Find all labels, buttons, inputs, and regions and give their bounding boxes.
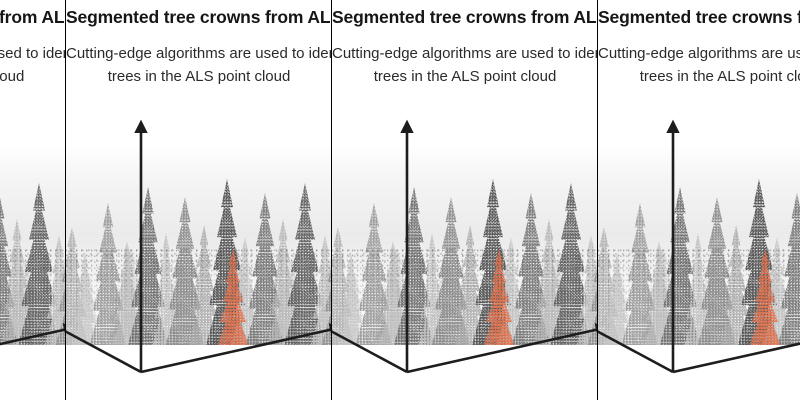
als-point-cloud-scene (598, 100, 800, 400)
page-title: Segmented tree crowns from ALS (598, 6, 800, 28)
subtitle-line-2: trees in the ALS point cloud (598, 65, 800, 88)
als-point-cloud-scene (66, 100, 332, 400)
subtitle-line-2: trees in the ALS point cloud (332, 65, 598, 88)
als-point-cloud-scene (0, 100, 66, 400)
infographic-panel: Segmented tree crowns from ALS Cutting-e… (332, 0, 598, 400)
tiled-panel-strip: Segmented tree crowns from ALS Cutting-e… (0, 0, 800, 400)
ground-plane-axis-right (141, 328, 332, 372)
page-title: Segmented tree crowns from ALS (66, 6, 332, 28)
ground-plane-axis-left (66, 322, 141, 372)
infographic-panel: Segmented tree crowns from ALS Cutting-e… (66, 0, 332, 400)
infographic-panel: Segmented tree crowns from ALS Cutting-e… (598, 0, 800, 400)
three-d-axis-frame (598, 100, 800, 400)
infographic-panel: Segmented tree crowns from ALS Cutting-e… (0, 0, 66, 400)
page-subtitle: Cutting-edge algorithms are used to iden… (598, 42, 800, 88)
ground-plane-axis-right (673, 328, 800, 372)
page-title: Segmented tree crowns from ALS (332, 6, 598, 28)
page-title: Segmented tree crowns from ALS (0, 6, 66, 28)
three-d-axis-frame (0, 100, 66, 400)
subtitle-line-1: Cutting-edge algorithms are used to iden… (66, 42, 332, 65)
subtitle-line-2: trees in the ALS point cloud (0, 65, 66, 88)
three-d-axis-frame (66, 100, 332, 400)
subtitle-line-1: Cutting-edge algorithms are used to iden… (598, 42, 800, 65)
als-point-cloud-scene (332, 100, 598, 400)
page-subtitle: Cutting-edge algorithms are used to iden… (332, 42, 598, 88)
subtitle-line-1: Cutting-edge algorithms are used to iden… (332, 42, 598, 65)
ground-plane-axis-right (0, 328, 66, 372)
subtitle-line-2: trees in the ALS point cloud (66, 65, 332, 88)
ground-plane-axis-left (598, 322, 673, 372)
ground-plane-axis-right (407, 328, 598, 372)
ground-plane-axis-left (332, 322, 407, 372)
page-subtitle: Cutting-edge algorithms are used to iden… (0, 42, 66, 88)
three-d-axis-frame (332, 100, 598, 400)
subtitle-line-1: Cutting-edge algorithms are used to iden… (0, 42, 66, 65)
page-subtitle: Cutting-edge algorithms are used to iden… (66, 42, 332, 88)
